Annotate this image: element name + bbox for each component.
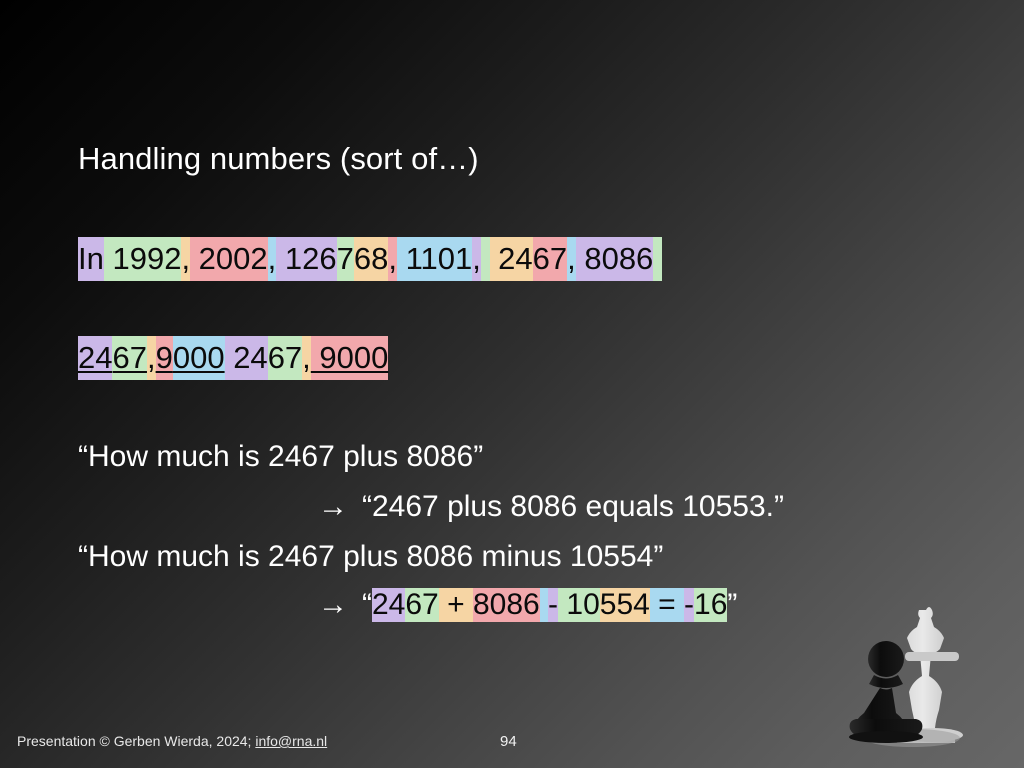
chess-pieces-decoration <box>836 590 1006 760</box>
token-segment: 67 <box>405 588 438 622</box>
close-quote: ” <box>727 588 737 621</box>
token-segment: , <box>472 237 481 281</box>
page-number: 94 <box>500 733 517 750</box>
dialogue-question-1: “How much is 2467 plus 8086” <box>78 440 483 474</box>
token-segment: , <box>302 336 311 380</box>
token-segment: , <box>181 237 190 281</box>
footer-credit-text: Presentation © Gerben Wierda, 2024; <box>17 733 255 749</box>
token-segment: 24 <box>372 588 405 622</box>
token-segment: 1992 <box>104 237 182 281</box>
token-segment: - <box>684 588 694 622</box>
footer-credit: Presentation © Gerben Wierda, 2024; info… <box>17 733 327 749</box>
footer-email-link[interactable]: info@rna.nl <box>255 733 327 749</box>
tokenized-arithmetic-row: 2467 + 8086 - 10554 = -16 <box>372 588 727 622</box>
tokenized-years-row: In 1992, 2002, 126768, 1101, 2467, 8086 <box>78 237 662 281</box>
token-segment: 2002 <box>190 237 268 281</box>
token-segment: , <box>147 336 156 380</box>
dialogue-answer-1: →“2467 plus 8086 equals 10553.” <box>318 490 784 524</box>
token-segment: 68 <box>354 237 388 281</box>
black-pawn-icon <box>849 641 923 743</box>
token-segment: , <box>567 237 576 281</box>
token-segment: 10 <box>558 588 600 622</box>
token-segment: 000 <box>173 336 225 380</box>
arrow-right-icon: → <box>318 490 348 524</box>
token-segment: 1101 <box>397 237 472 281</box>
token-segment <box>540 588 548 622</box>
token-segment: - <box>548 588 558 622</box>
token-segment <box>653 237 662 281</box>
token-segment: 67 <box>268 336 302 380</box>
token-segment: , <box>388 237 397 281</box>
slide-title: Handling numbers (sort of…) <box>78 141 479 177</box>
token-segment: 9000 <box>311 336 389 380</box>
token-segment: 126 <box>276 237 336 281</box>
token-segment: 9 <box>156 336 173 380</box>
token-segment: 16 <box>694 588 727 622</box>
token-segment: 24 <box>78 336 112 380</box>
dialogue-question-2: “How much is 2467 plus 8086 minus 10554” <box>78 540 663 574</box>
token-segment: 554 <box>600 588 650 622</box>
token-segment: = <box>650 588 684 622</box>
token-segment: 67 <box>112 336 146 380</box>
dialogue-answer-2: →“2467 + 8086 - 10554 = -16” <box>318 588 737 622</box>
token-segment: + <box>439 588 473 622</box>
arrow-right-icon: → <box>318 588 348 622</box>
token-segment: 24 <box>225 336 268 380</box>
slide-canvas: Handling numbers (sort of…) In 1992, 200… <box>0 0 1024 768</box>
white-queen-icon <box>896 607 963 743</box>
token-segment: 8086 <box>576 237 654 281</box>
token-segment: 8086 <box>473 588 540 622</box>
token-segment: 7 <box>337 237 354 281</box>
token-segment: 67 <box>533 237 567 281</box>
token-segment: , <box>268 237 277 281</box>
token-segment: In <box>78 237 104 281</box>
dialogue-answer-1-text: “2467 plus 8086 equals 10553.” <box>362 490 784 524</box>
tokenized-repetition-row: 2467,9000 2467, 9000 <box>78 336 388 380</box>
open-quote: “ <box>362 588 372 621</box>
token-segment <box>481 237 490 281</box>
token-segment: 24 <box>490 237 533 281</box>
